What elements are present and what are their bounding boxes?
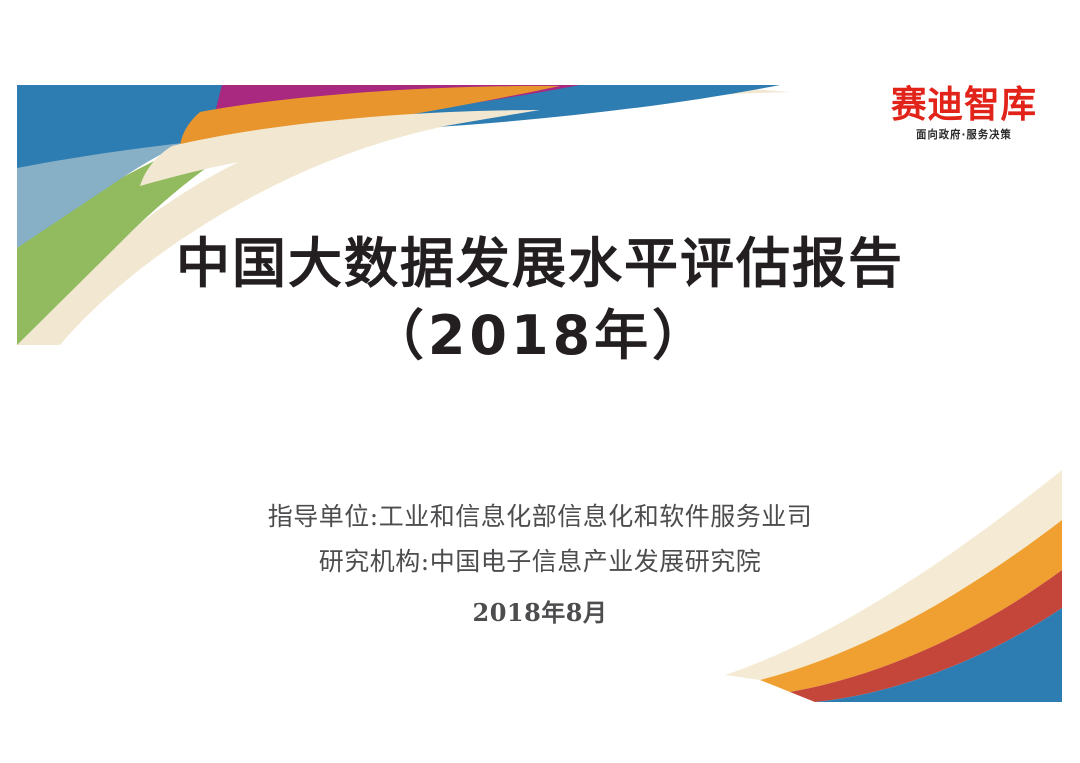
page-title: 中国大数据发展水平评估报告 （2018年） bbox=[0, 228, 1080, 372]
deco-top-magenta-band bbox=[210, 85, 580, 132]
logo-wordmark: 赛迪智库 bbox=[887, 86, 1041, 123]
deco-top-blue-band bbox=[17, 85, 780, 168]
title-line-year: （2018年） bbox=[0, 300, 1080, 372]
brand-logo: 赛迪智库 面向政府·服务决策 bbox=[884, 86, 1044, 140]
deco-top-orange-band bbox=[180, 86, 560, 156]
logo-tagline: 面向政府·服务决策 bbox=[890, 129, 1039, 140]
report-cover-page: 赛迪智库 面向政府·服务决策 中国大数据发展水平评估报告 （2018年） 指导单… bbox=[0, 0, 1080, 763]
deco-top-lightblue-band bbox=[17, 88, 318, 248]
title-line-primary: 中国大数据发展水平评估报告 bbox=[0, 228, 1080, 300]
credit-guidance-unit: 指导单位:工业和信息化部信息化和软件服务业司 bbox=[0, 494, 1080, 539]
credits: 指导单位:工业和信息化部信息化和软件服务业司 研究机构:中国电子信息产业发展研究… bbox=[0, 494, 1080, 635]
credit-publication-date: 2018年8月 bbox=[0, 590, 1080, 635]
deco-top-cream-thin-band bbox=[140, 110, 540, 186]
credit-research-institute: 研究机构:中国电子信息产业发展研究院 bbox=[0, 539, 1080, 584]
